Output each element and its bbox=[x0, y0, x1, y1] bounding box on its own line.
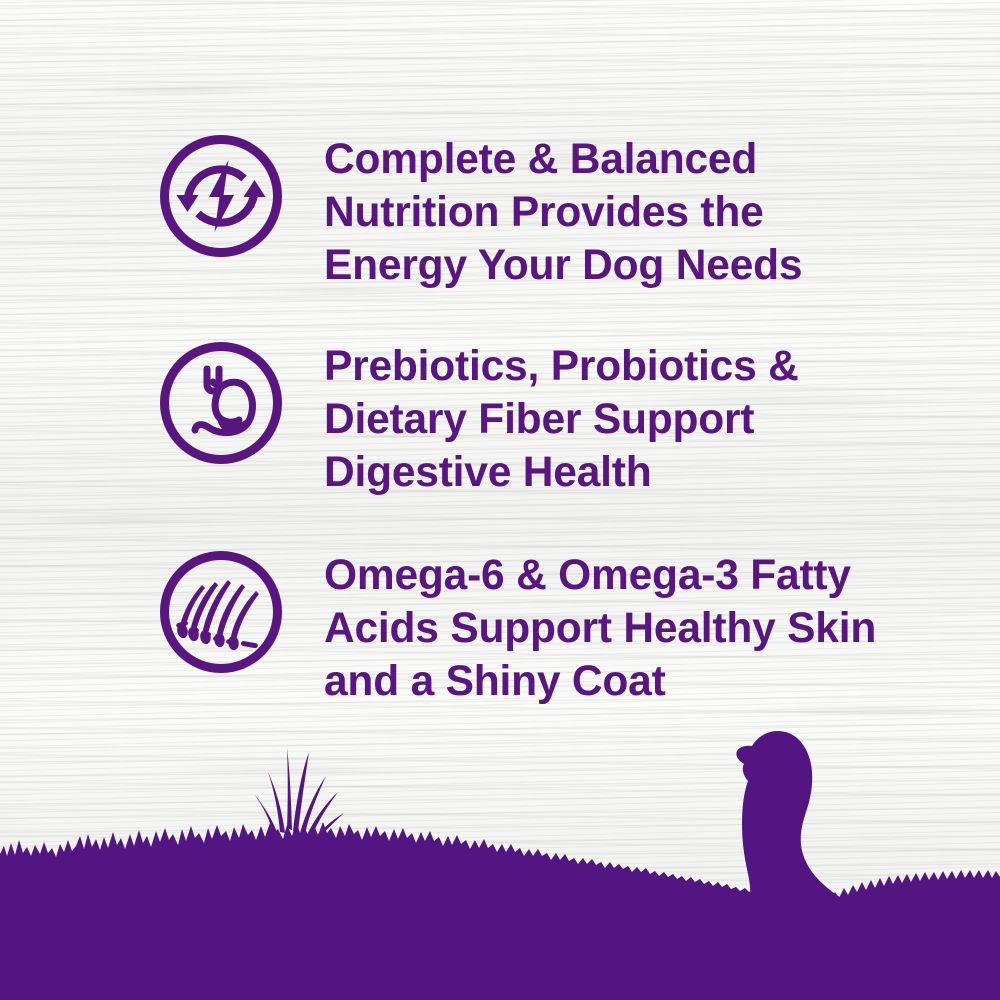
landscape-scene bbox=[0, 700, 1000, 1000]
hair-follicle-icon bbox=[158, 549, 284, 675]
benefit-item-digestive: Prebiotics, Probiotics & Dietary Fiber S… bbox=[158, 340, 799, 499]
benefit-text-digestive: Prebiotics, Probiotics & Dietary Fiber S… bbox=[324, 340, 799, 499]
stomach-icon bbox=[158, 340, 284, 466]
benefit-text-skin-coat: Omega-6 & Omega-3 Fatty Acids Support He… bbox=[324, 549, 876, 708]
benefit-text-energy: Complete & Balanced Nutrition Provides t… bbox=[324, 133, 802, 292]
energy-cycle-icon bbox=[158, 133, 284, 259]
benefits-panel: Complete & Balanced Nutrition Provides t… bbox=[0, 0, 1000, 1000]
benefit-item-energy: Complete & Balanced Nutrition Provides t… bbox=[158, 133, 802, 292]
grass-silhouette bbox=[0, 822, 1000, 1000]
benefit-item-skin-coat: Omega-6 & Omega-3 Fatty Acids Support He… bbox=[158, 549, 876, 708]
